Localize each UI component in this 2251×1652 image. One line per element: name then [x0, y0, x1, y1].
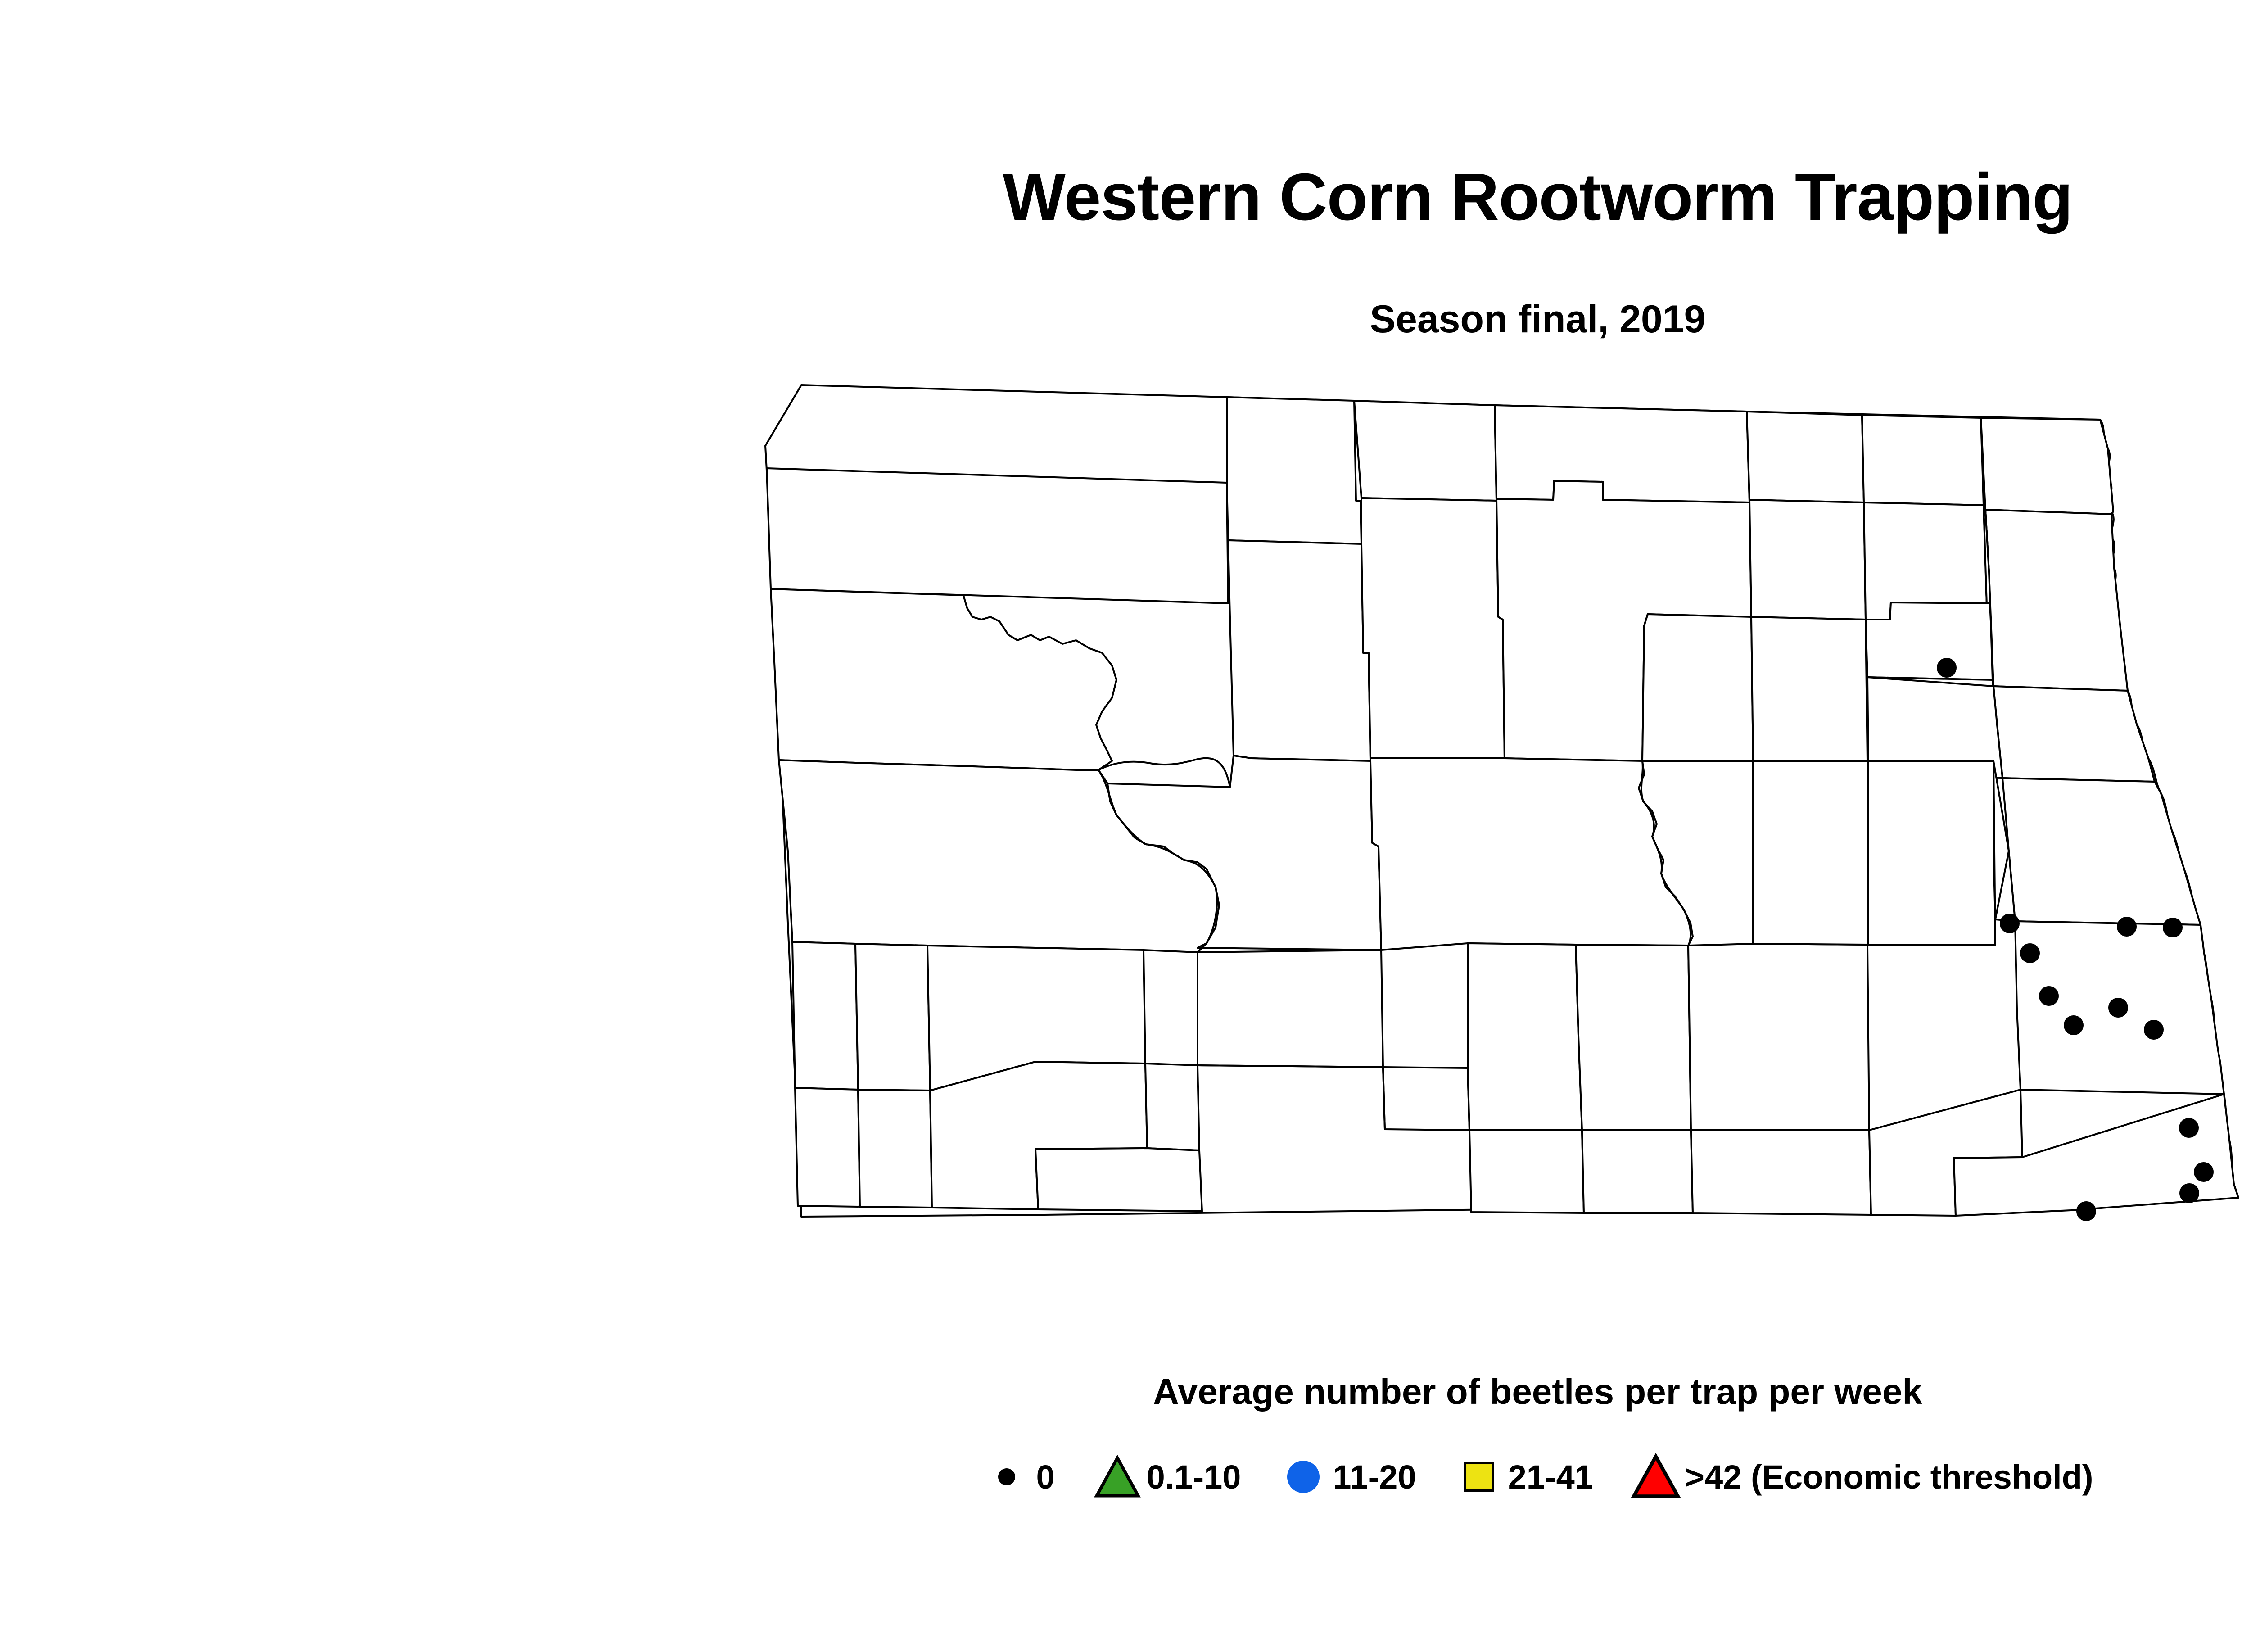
county-pembina: [1985, 510, 2128, 691]
county-mercer: [1198, 950, 1383, 1067]
trap-point: [2000, 914, 2020, 933]
county-logan: [1582, 1130, 1693, 1213]
county-golden-valley: [792, 942, 858, 1090]
circle-blue-icon: [1279, 1452, 1328, 1502]
trap-point: [2076, 1201, 2096, 1221]
county-stutsman-top: [1753, 761, 1868, 945]
county-cavalier: [1981, 418, 2113, 514]
county-walsh: [1993, 686, 2155, 782]
county-sheridan: [1642, 614, 1753, 761]
county-bowman: [795, 1088, 860, 1207]
county-divide: [767, 468, 1228, 603]
legend-item-0: 0: [982, 1452, 1054, 1502]
trap-point: [2020, 943, 2040, 963]
legend-item-2: 11-20: [1279, 1452, 1416, 1502]
county-slope: [858, 1090, 932, 1208]
legend-title: Average number of beetles per trap per w…: [0, 1371, 2251, 1412]
trap-point: [2163, 918, 2183, 937]
county-emmons: [1469, 1130, 1584, 1213]
county-sioux: [1035, 1148, 1202, 1211]
map-counties: [765, 385, 2238, 1217]
county-kidder: [1576, 945, 1691, 1130]
county-oliver: [1383, 1067, 1469, 1130]
trap-point: [2117, 917, 2137, 937]
legend-item-3: 21-41: [1454, 1452, 1593, 1502]
county-burleigh: [1468, 943, 1582, 1130]
legend-label-0: 0: [1036, 1458, 1054, 1496]
county-lamoure: [1691, 1130, 1871, 1215]
trap-point: [2108, 998, 2128, 1018]
dot-icon: [982, 1452, 1031, 1502]
north-dakota-map: [720, 365, 2251, 1337]
trap-point: [2144, 1020, 2164, 1040]
trap-point: [2064, 1015, 2084, 1035]
county-billings: [855, 944, 930, 1091]
trap-point: [2039, 986, 2059, 1006]
county-bottineau: [1495, 405, 1749, 502]
legend-label-2: 11-20: [1333, 1458, 1416, 1496]
legend-label-3: 21-41: [1508, 1458, 1593, 1496]
triangle-green-icon: [1093, 1452, 1142, 1502]
county-grant: [1145, 1064, 1199, 1150]
trap-point: [2194, 1162, 2214, 1182]
county-towner: [1862, 415, 1984, 505]
page-subtitle: Season final, 2019: [0, 297, 2251, 342]
county-stutsman: [1688, 944, 1869, 1130]
legend-item-4: >42 (Economic threshold): [1631, 1452, 2093, 1502]
county-ward: [1361, 498, 1505, 761]
legend-label-4: >42 (Economic threshold): [1685, 1458, 2093, 1496]
trap-point: [2179, 1118, 2199, 1138]
legend-label-1: 0.1-10: [1147, 1458, 1241, 1496]
square-yellow-icon: [1454, 1452, 1504, 1502]
county-burke: [1227, 397, 1361, 544]
trap-point: [2179, 1183, 2199, 1203]
legend: 0 0.1-10 11-20 21-41: [0, 1452, 2251, 1502]
county-rolette: [1747, 412, 1864, 502]
triangle-red-icon: [1631, 1452, 1681, 1502]
map-page: Western Corn Rootworm Trapping Season fi…: [0, 0, 2251, 1652]
county-wells: [1751, 617, 1867, 761]
county-grand-forks: [2002, 778, 2201, 925]
county-barnes: [1868, 761, 1995, 945]
county-mountrail: [1228, 540, 1370, 761]
page-title: Western Corn Rootworm Trapping: [0, 162, 2251, 232]
county-renville: [1354, 401, 1496, 501]
trap-point: [1937, 658, 1957, 678]
legend-item-1: 0.1-10: [1093, 1452, 1241, 1502]
county-pierce: [1749, 500, 1866, 620]
